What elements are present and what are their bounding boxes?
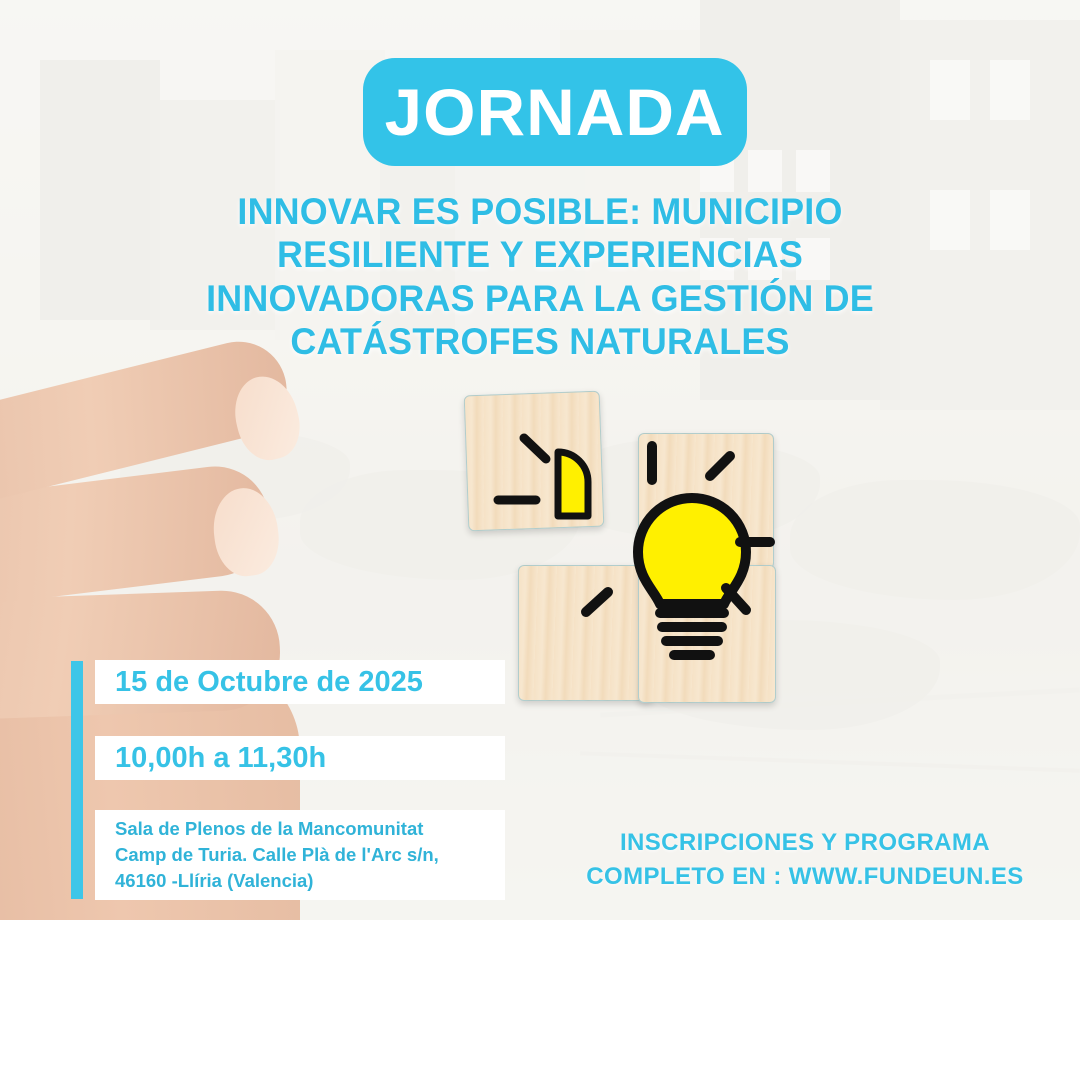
event-date: 15 de Octubre de 2025 [95, 666, 423, 699]
puzzle-tile [518, 565, 654, 701]
event-time-box: 10,00h a 11,30h [95, 736, 505, 780]
title-line-3: INNOVADORAS PARA LA GESTIÓN DE [104, 277, 977, 320]
title-line-2: RESILIENTE Y EXPERIENCIAS [104, 233, 977, 276]
puzzle-tile [638, 565, 776, 703]
puzzle-tile [464, 391, 605, 532]
event-venue-box: Sala de Plenos de la Mancomunitat Camp d… [95, 810, 505, 900]
event-date-box: 15 de Octubre de 2025 [95, 660, 505, 704]
registration-line-2[interactable]: COMPLETO EN : WWW.FUNDEUN.ES [560, 860, 1050, 894]
venue-line-3: 46160 -Llíria (Valencia) [115, 868, 439, 894]
event-time: 10,00h a 11,30h [95, 742, 326, 775]
registration-line-1: INSCRIPCIONES Y PROGRAMA [560, 826, 1050, 860]
page-title: INNOVAR ES POSIBLE: MUNICIPIO RESILIENTE… [90, 190, 990, 363]
footer: Organiza: Actividad financiada por: Cola… [0, 920, 1080, 1080]
jornada-badge-label: JORNADA [385, 74, 725, 150]
venue-line-1: Sala de Plenos de la Mancomunitat [115, 816, 439, 842]
title-line-1: INNOVAR ES POSIBLE: MUNICIPIO [104, 190, 977, 233]
jornada-badge: JORNADA [363, 58, 747, 166]
title-line-4: CATÁSTROFES NATURALES [104, 320, 977, 363]
registration-info[interactable]: INSCRIPCIONES Y PROGRAMA COMPLETO EN : W… [560, 826, 1050, 894]
puzzle-lightbulb [440, 380, 810, 680]
venue-line-2: Camp de Turia. Calle Plà de l'Arc s/n, [115, 842, 439, 868]
event-venue: Sala de Plenos de la Mancomunitat Camp d… [95, 816, 439, 895]
accent-bar [71, 661, 83, 899]
poster: JORNADA INNOVAR ES POSIBLE: MUNICIPIO RE… [0, 0, 1080, 1080]
puzzle-tile [638, 433, 774, 569]
